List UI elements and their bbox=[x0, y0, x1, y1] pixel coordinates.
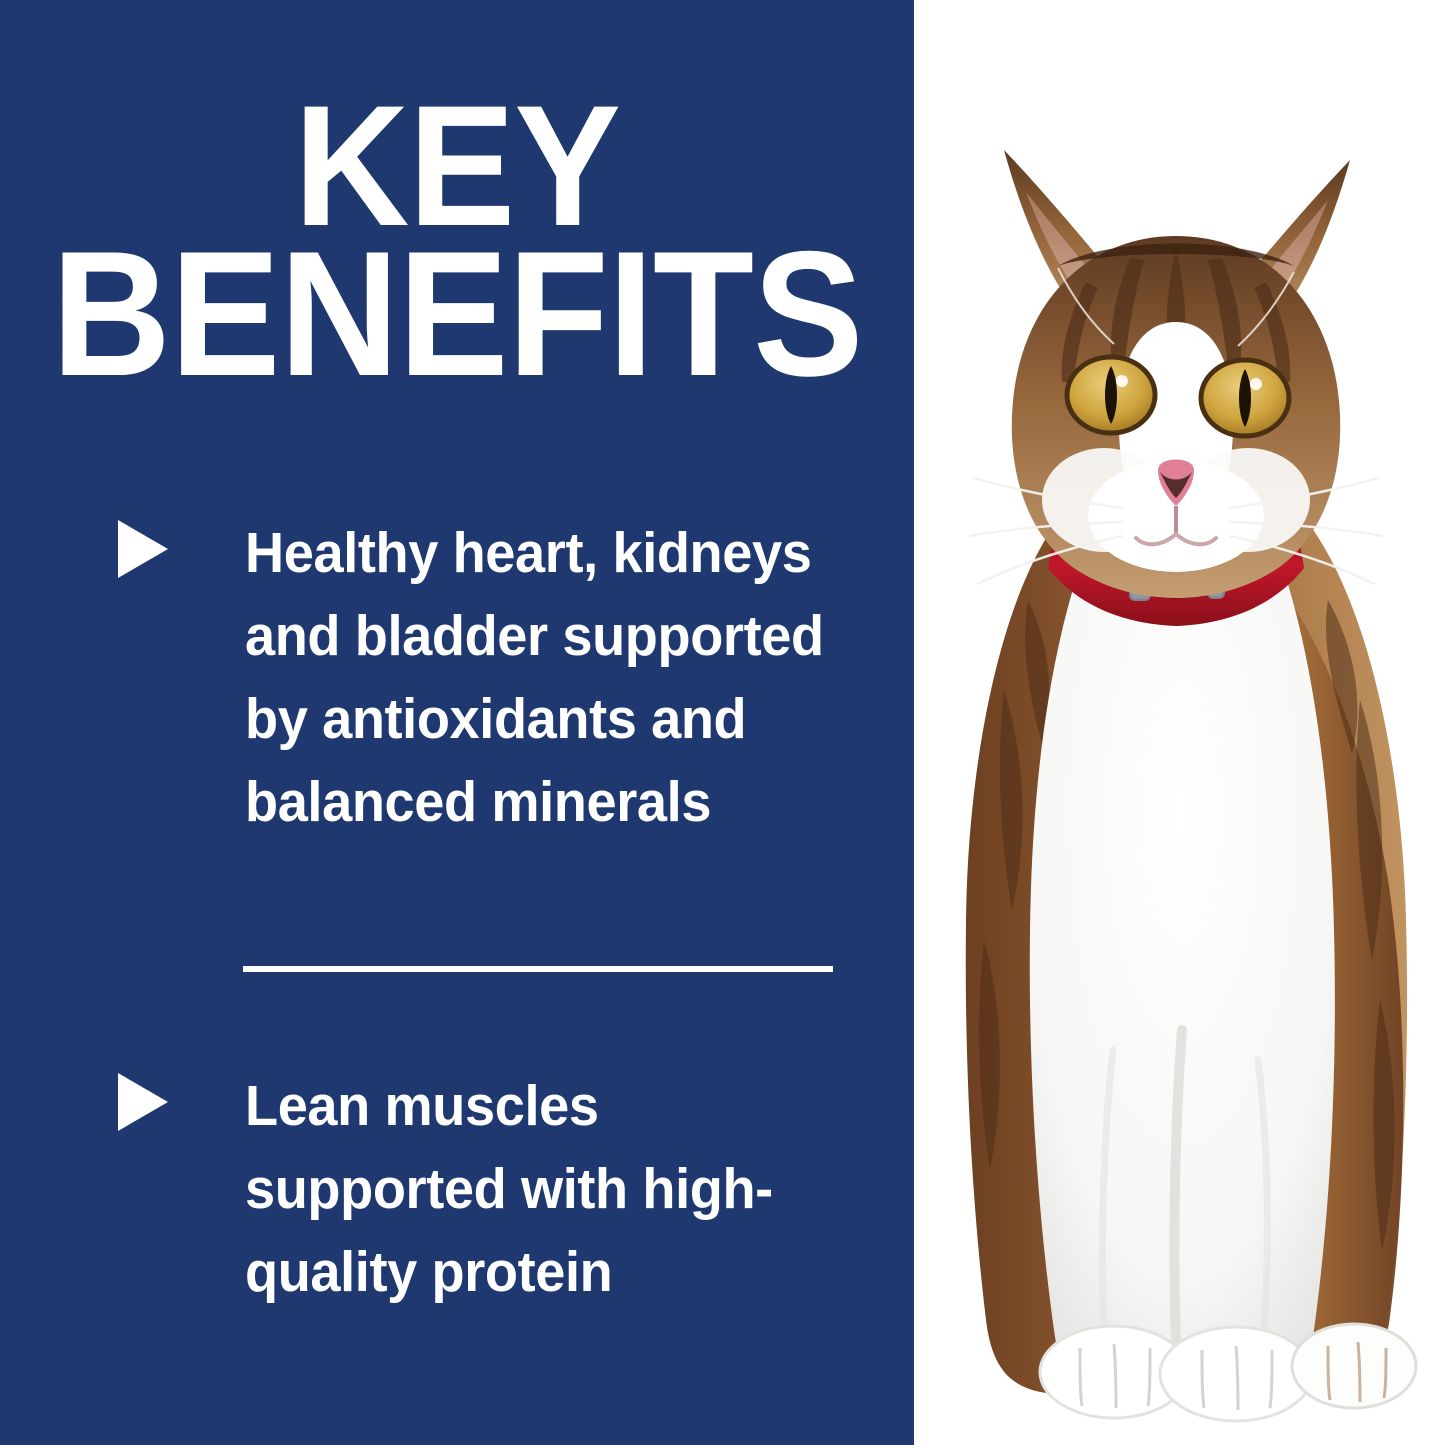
cat-vector bbox=[914, 0, 1445, 1445]
page-title: KEY BENEFITS bbox=[0, 92, 914, 388]
benefit-item-1: Healthy heart, kidneys and bladder suppo… bbox=[118, 512, 858, 844]
triangle-right-icon bbox=[118, 520, 168, 578]
benefit-item-2-label: Lean muscles supported with high-quality… bbox=[245, 1065, 827, 1314]
triangle-right-icon bbox=[118, 1073, 168, 1131]
section-divider bbox=[243, 966, 833, 972]
cat-photo bbox=[914, 0, 1445, 1445]
key-benefits-panel: KEY BENEFITS Healthy heart, kidneys and … bbox=[0, 0, 1445, 1445]
page-title-line-2: BENEFITS bbox=[32, 240, 882, 388]
benefit-item-2: Lean muscles supported with high-quality… bbox=[118, 1065, 858, 1314]
cat-illustration bbox=[914, 0, 1445, 1445]
benefit-item-1-label: Healthy heart, kidneys and bladder suppo… bbox=[245, 512, 827, 844]
